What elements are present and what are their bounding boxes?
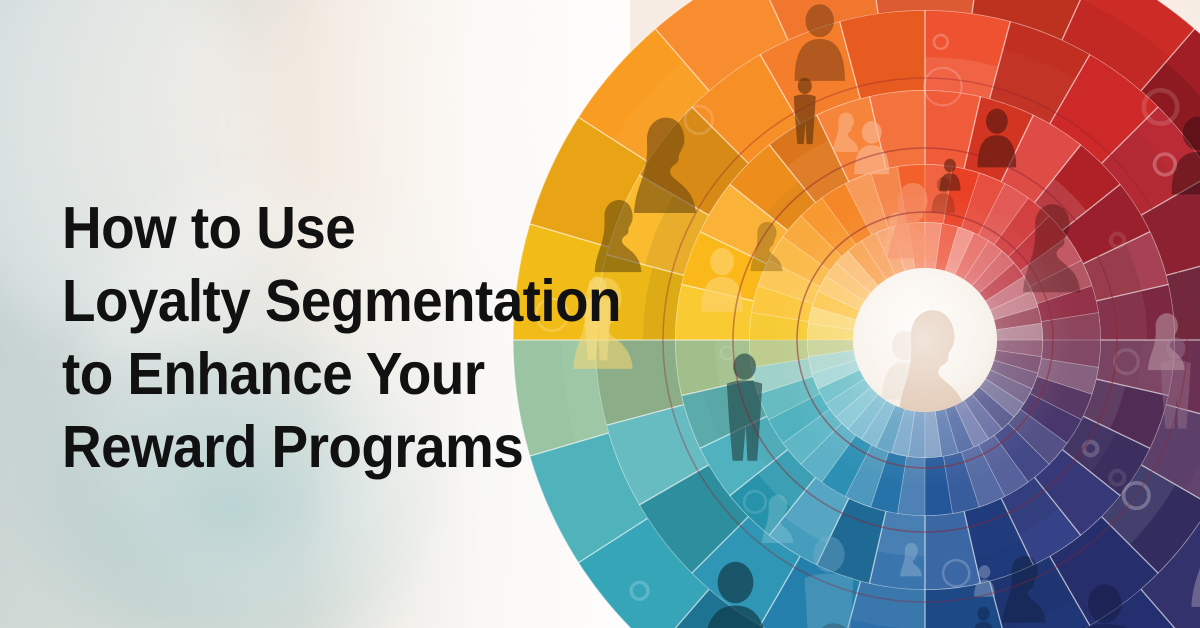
- headline-line-3: to Enhance Your: [62, 338, 676, 411]
- poster-canvas: How to Use Loyalty Segmentation to Enhan…: [0, 0, 1200, 628]
- headline-line-1: How to Use: [62, 192, 676, 265]
- headline-line-4: Reward Programs: [62, 411, 676, 484]
- page-title: How to Use Loyalty Segmentation to Enhan…: [62, 192, 676, 484]
- center-glow: [775, 190, 1075, 490]
- headline-line-2: Loyalty Segmentation: [62, 265, 676, 338]
